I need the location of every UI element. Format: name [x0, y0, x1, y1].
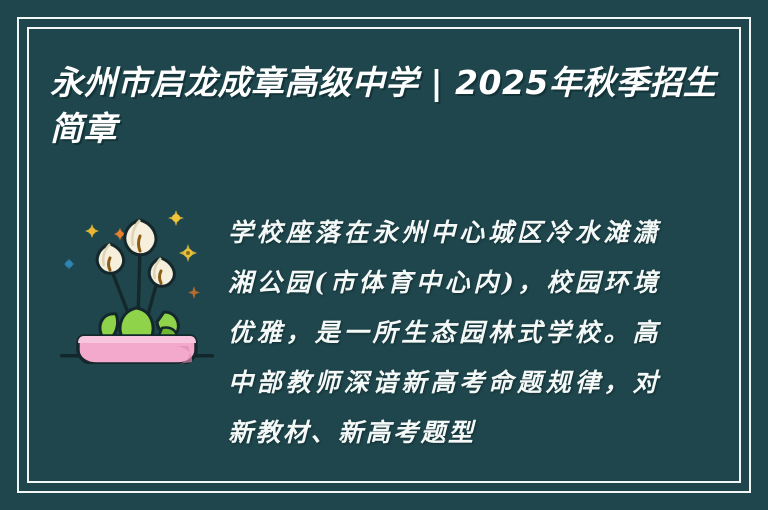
body-copy-text: 学校座落在永州中心城区冷水滩潇湘公园(市体育中心内)，校园环境优雅，是一所生态园… — [228, 208, 660, 458]
body-copy: 学校座落在永州中心城区冷水滩潇湘公园(市体育中心内)，校园环境优雅，是一所生态园… — [228, 208, 660, 458]
page-title: 永州市启龙成章高级中学 | 2025年秋季招生简章 — [50, 60, 722, 152]
flower-bud-left — [97, 244, 123, 273]
flower-bud-right — [149, 258, 174, 286]
sparkle-blue-left — [63, 258, 75, 270]
sparkle-yellow-top — [168, 210, 184, 226]
sparkle-yellow-right — [179, 244, 197, 262]
flower-bud-center — [125, 220, 156, 255]
page-title-text: 永州市启龙成章高级中学 | 2025年秋季招生简章 — [50, 60, 722, 152]
potted-flower-illustration — [58, 196, 216, 364]
sparkle-yellow-left — [85, 224, 99, 238]
poster-canvas: 永州市启龙成章高级中学 | 2025年秋季招生简章 — [0, 0, 768, 510]
flower-pot — [78, 336, 196, 364]
sparkle-orange-right — [188, 286, 200, 299]
